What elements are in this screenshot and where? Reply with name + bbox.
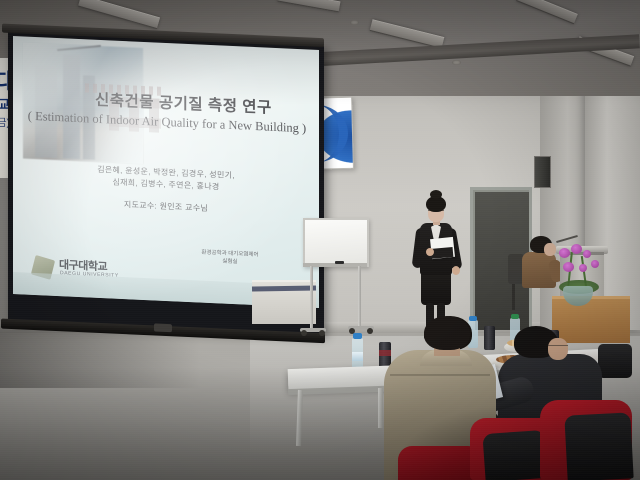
presenter-skirt: [421, 272, 451, 305]
slide-department: 환경공학과 대기오염제어 실험실: [155, 247, 305, 270]
ceiling-light-fixture: [516, 0, 578, 24]
screen-pull-knob: [154, 323, 172, 332]
slide-advisor: 지도교수: 원인조 교수님: [13, 194, 319, 219]
presenter-hand-right: [452, 266, 460, 275]
purple-orchid-arrangement: [549, 244, 611, 306]
whiteboard-marker-icon: [335, 261, 344, 264]
ceiling-light-fixture: [78, 0, 160, 29]
orchid-bloom: [591, 260, 599, 268]
orchid-bloom: [563, 262, 574, 272]
presenter-hair-bun: [430, 190, 442, 199]
red-auditorium-seat: [398, 446, 480, 480]
presenter-hand-left: [426, 248, 434, 256]
orchid-bloom: [579, 264, 587, 272]
glasses-icon: [548, 345, 568, 349]
orchid-bloom: [559, 248, 570, 258]
tan-jacket-hair: [424, 316, 470, 350]
whiteboard-leg-right: [358, 266, 361, 328]
orchid-bloom: [571, 244, 582, 254]
bottle-cap: [353, 333, 362, 339]
ceiling-light-fixture: [278, 0, 341, 12]
bottle-label: [352, 352, 363, 361]
presentation-room-photo: 대 교 . (금) 발표회 표회 대구대학교 환경공학과 신축건물 공기질 측정…: [0, 0, 640, 480]
caster-icon: [301, 330, 307, 336]
orchid-bloom: [583, 250, 591, 258]
ceiling-sprinkler-icon: [350, 20, 359, 25]
whiteboard-leg-left: [310, 266, 313, 330]
bottle-cap: [511, 314, 519, 319]
jacket-seam: [390, 374, 490, 376]
seat-back-panel: [564, 412, 633, 480]
caster-icon: [319, 330, 325, 336]
reader-face: [548, 338, 568, 360]
whiteboard-base-right: [348, 326, 374, 330]
chair-leg: [512, 284, 515, 310]
caster-icon: [367, 328, 373, 334]
ceiling-light-fixture: [370, 19, 445, 49]
glass-vase: [563, 286, 593, 306]
ceiling-sprinkler-icon: [452, 60, 461, 65]
wall-speaker-icon: [534, 156, 551, 188]
whiteboard-base-left: [300, 328, 326, 332]
seat-back-panel: [482, 430, 547, 480]
mobile-whiteboard: [303, 218, 369, 267]
projected-slide: 신축건물 공기질 측정 연구 ( Estimation of Indoor Ai…: [13, 36, 319, 308]
